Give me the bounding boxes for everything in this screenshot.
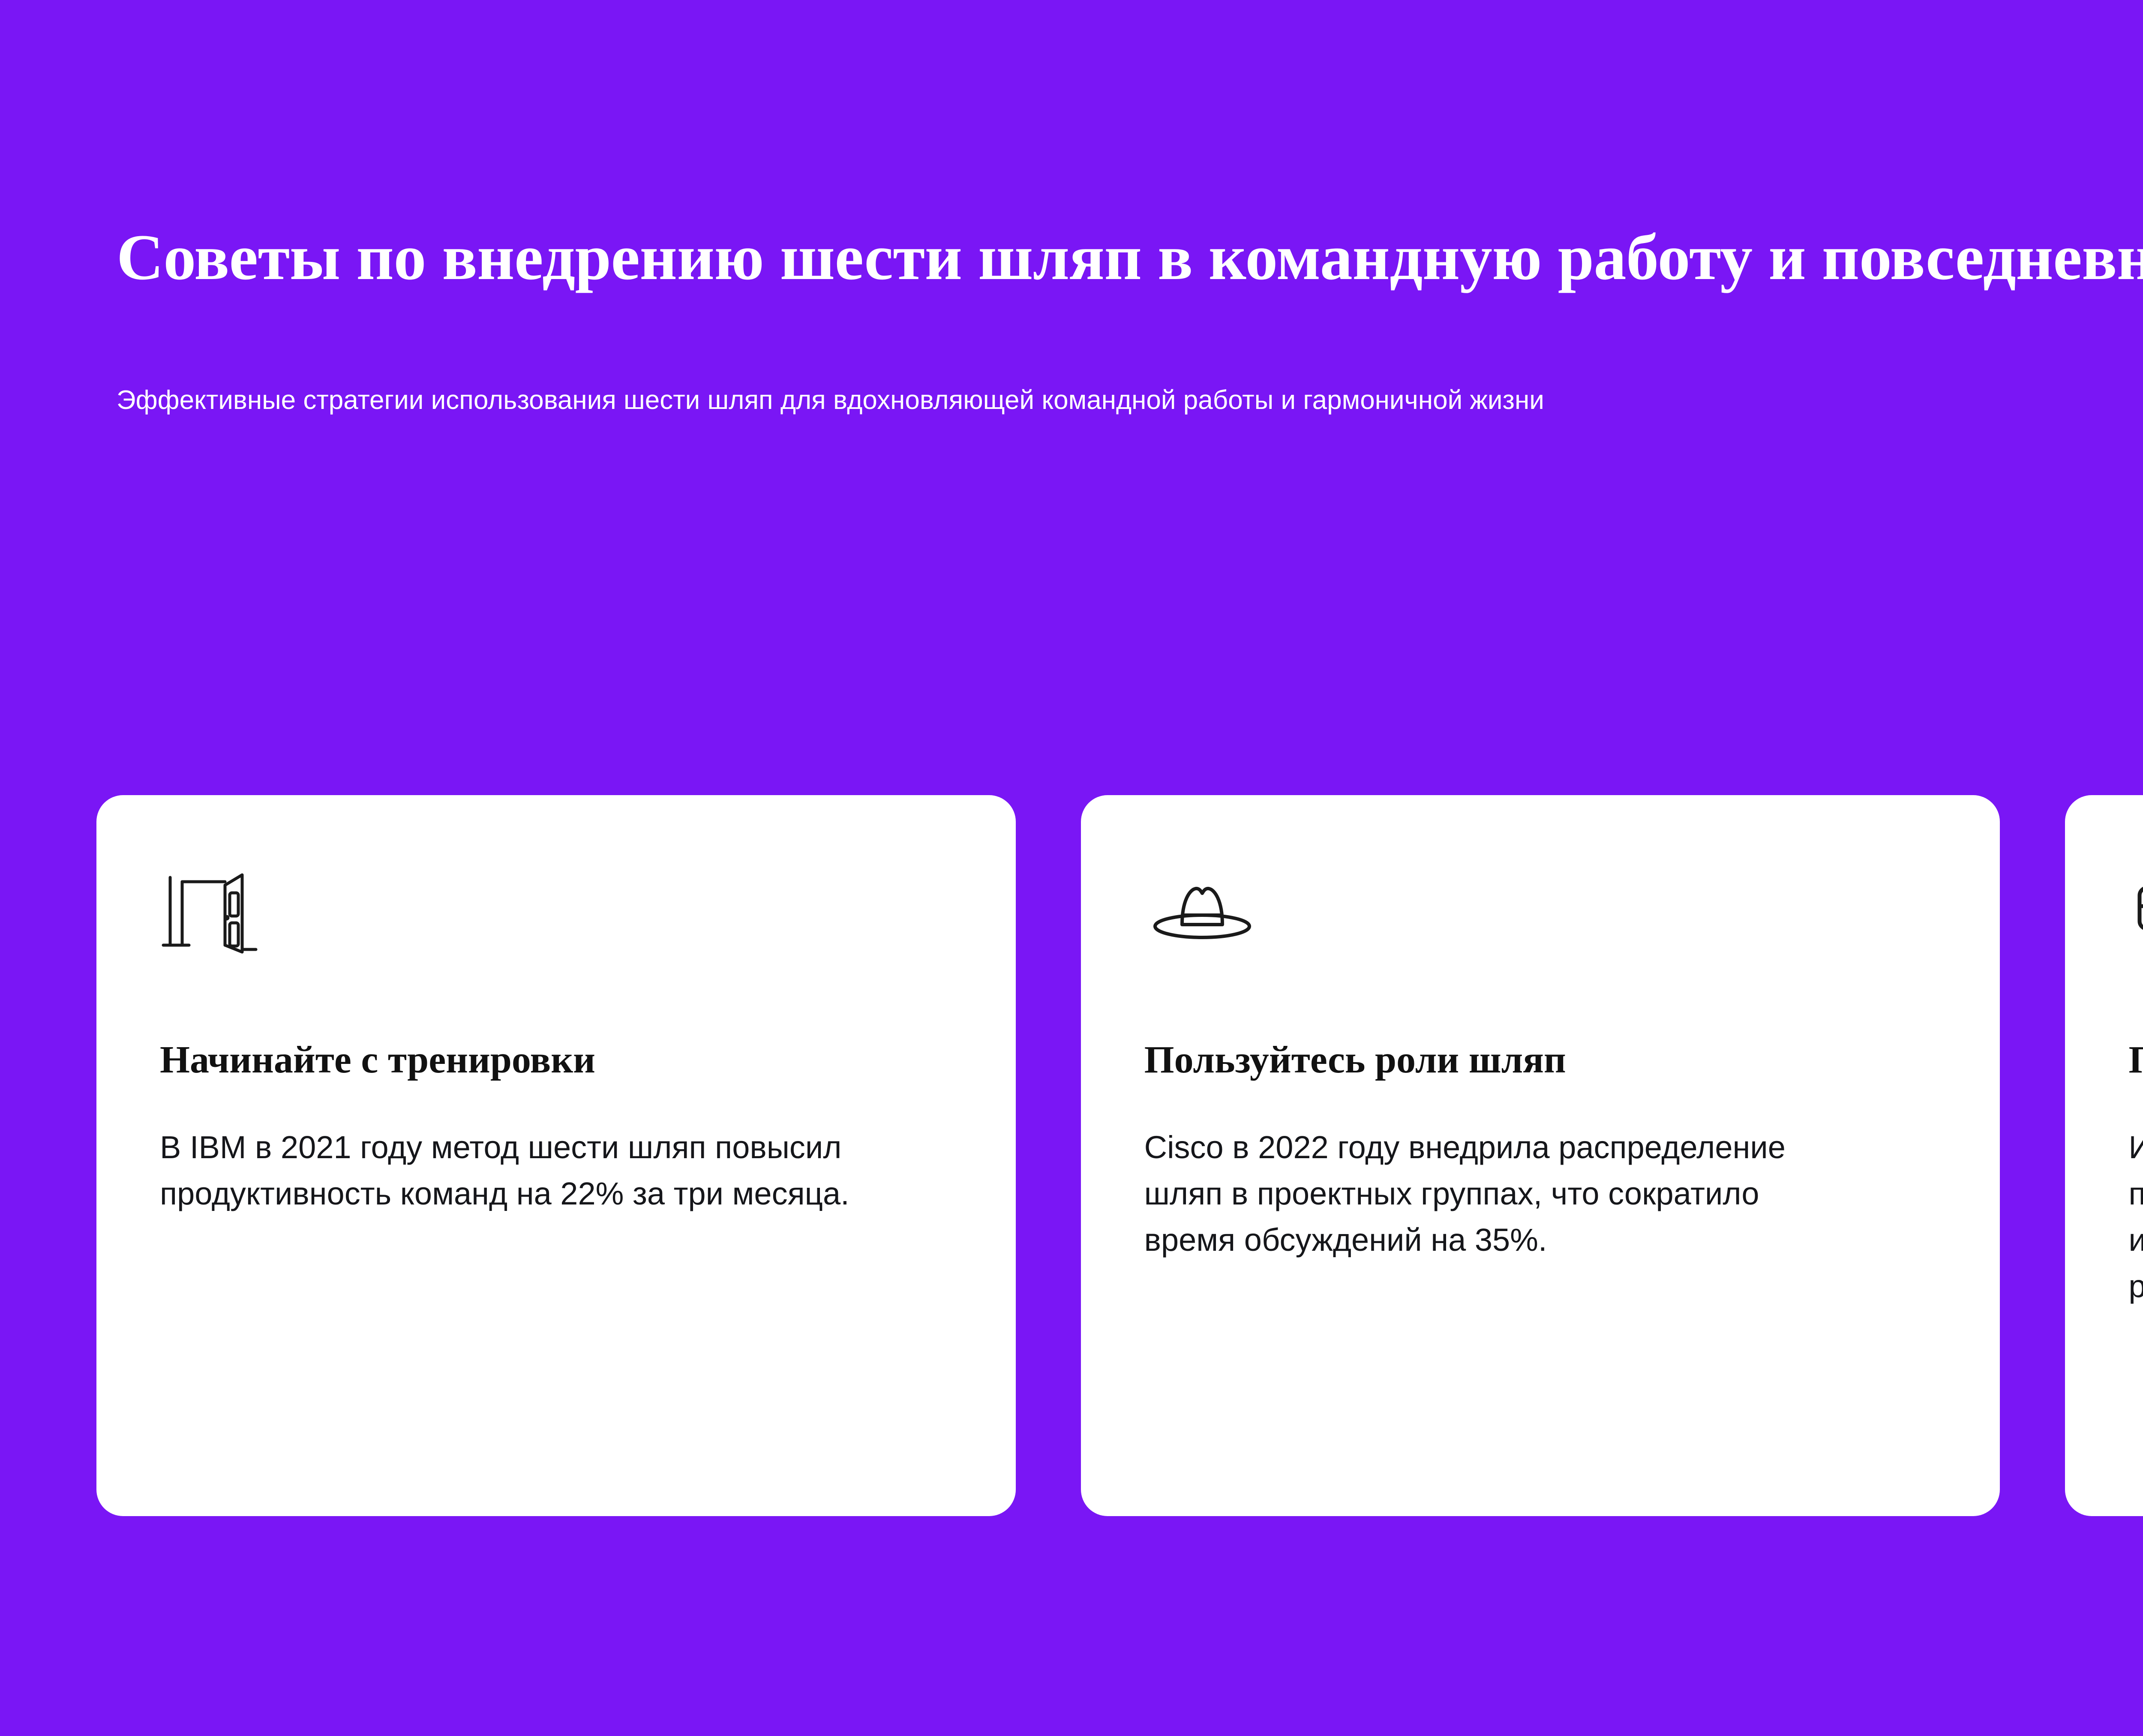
fedora-hat-icon <box>1144 859 1260 957</box>
card-body: Cisco в 2022 году внедрила распределение… <box>1144 1124 1813 1263</box>
header: Советы по внедрению шести шляп в командн… <box>117 214 2143 420</box>
page-title: Советы по внедрению шести шляп в командн… <box>117 214 2143 300</box>
card-body: В IBM в 2021 году метод шести шляп повыс… <box>160 1124 948 1217</box>
card-row: Начинайте с тренировки В IBM в 2021 году… <box>96 795 2143 1516</box>
slide-root: Советы по внедрению шести шляп в командн… <box>0 0 2143 1736</box>
tip-card[interactable]: Поощряйте открытость Исследование Гарвар… <box>2065 795 2143 1516</box>
card-title: Пользуйтесь роли шляп <box>1144 1037 1566 1083</box>
card-title: Начинайте с тренировки <box>160 1037 595 1083</box>
open-door-icon <box>160 859 276 957</box>
page-subtitle: Эффективные стратегии использования шест… <box>117 380 2143 420</box>
tip-card[interactable]: Пользуйтесь роли шляп Cisco в 2022 году … <box>1081 795 2000 1516</box>
notification-card-icon <box>2128 859 2143 957</box>
tip-card[interactable]: Начинайте с тренировки В IBM в 2021 году… <box>96 795 1016 1516</box>
card-body: Исследование Гарвардского университета (… <box>2128 1124 2143 1310</box>
card-title: Поощряйте открытость <box>2128 1037 2143 1083</box>
